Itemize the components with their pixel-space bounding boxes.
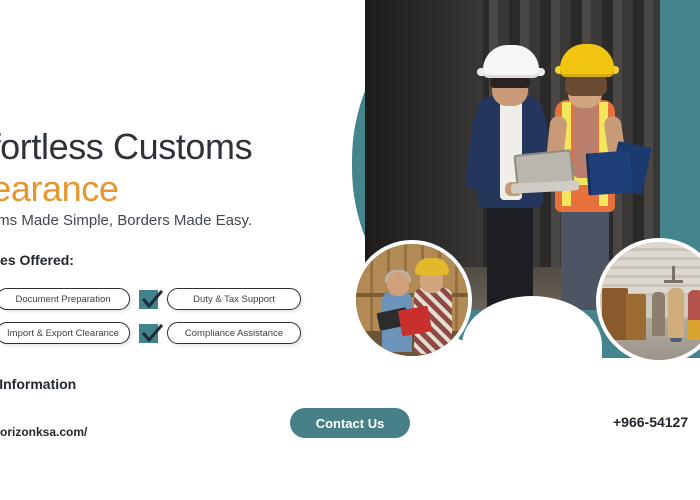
services-pill-grid: Document Preparation Duty & Tax Support … [0, 288, 356, 356]
service-pill-compliance-assistance[interactable]: Compliance Assistance [167, 322, 301, 344]
service-pill-duty-tax-support[interactable]: Duty & Tax Support [167, 288, 301, 310]
website-url-link[interactable]: //palmhorizonksa.com/ [0, 425, 87, 439]
phone-number[interactable]: +966-54127 [613, 414, 688, 430]
headline-line-2: Clearance [0, 168, 358, 210]
check-icon [139, 324, 158, 343]
contact-heading: Other Information [0, 376, 76, 392]
contact-us-button[interactable]: Contact Us [290, 408, 410, 438]
services-row-1: Document Preparation Duty & Tax Support [0, 288, 356, 310]
page-title: Effortless Customs Clearance [0, 126, 358, 211]
circle-photo-furniture-hall [596, 238, 700, 364]
services-heading: Services Offered: [0, 252, 74, 268]
subheadline: Customs Made Simple, Borders Made Easy. [0, 212, 252, 229]
service-pill-import-export-clearance[interactable]: Import & Export Clearance [0, 322, 130, 344]
check-icon [139, 290, 158, 309]
service-pill-document-preparation[interactable]: Document Preparation [0, 288, 130, 310]
circle-photo-warehouse [352, 240, 472, 360]
poster-canvas: Effortless Customs Clearance Customs Mad… [0, 0, 700, 500]
blue-folder-prop [587, 144, 649, 200]
services-row-2: Import & Export Clearance Compliance Ass… [0, 322, 356, 344]
laptop-prop [511, 152, 579, 196]
headline-line-1: Effortless Customs [0, 126, 252, 167]
